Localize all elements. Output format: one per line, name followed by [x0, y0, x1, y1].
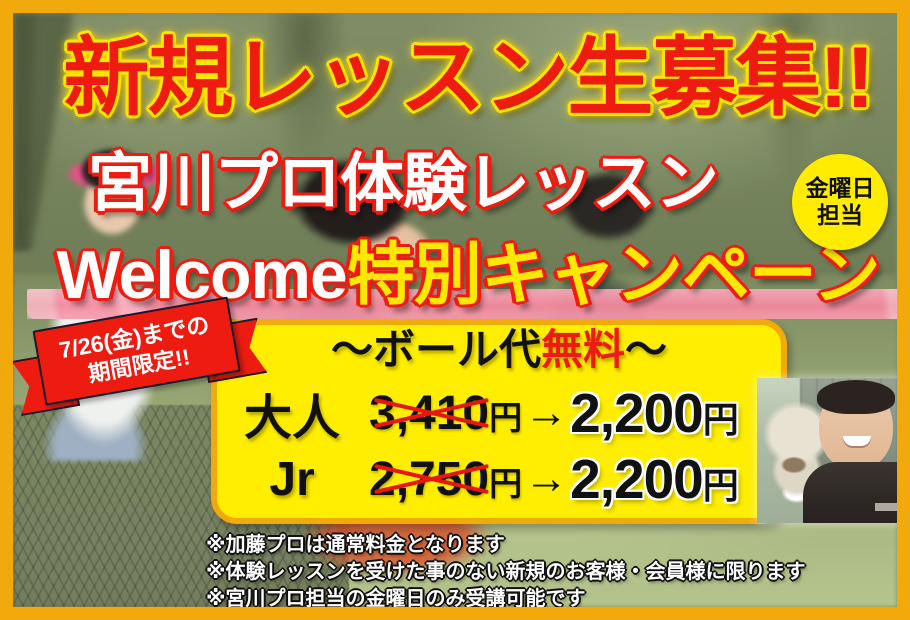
price-label-adult: 大人	[217, 378, 367, 448]
price-old-adult: 3,410円	[369, 387, 522, 440]
footnote-list: ※加藤プロは通常料金となります ※体験レッスンを受けた事のない新規のお客様・会員…	[206, 532, 906, 614]
panel-title-free: 無料	[541, 326, 625, 373]
instructor-shirt	[803, 462, 909, 523]
instructor-photo	[757, 378, 909, 523]
footnote-item: ※体験レッスンを受けた事のない新規のお客様・会員様に限ります	[206, 559, 906, 586]
price-old-junior: 2,750円	[369, 453, 522, 506]
price-row-junior: Jr 2,750円 → 2,200円	[217, 447, 781, 511]
panel-title-suffix: ～	[625, 326, 667, 373]
price-old-adult-wrap: 3,410円	[369, 386, 522, 441]
headline-campaign-special: 特別キャンペーン	[347, 237, 880, 313]
footnote-item: ※加藤プロは通常料金となります	[206, 532, 906, 559]
price-arrow-junior: →	[524, 454, 568, 504]
price-panel: ～ボール代無料～ 大人 3,410円 → 2,200円 Jr 2,750円 → …	[211, 319, 787, 524]
price-new-adult: 2,200円	[570, 381, 738, 445]
price-new-junior: 2,200円	[570, 447, 738, 511]
friday-badge-line1: 金曜日	[806, 175, 875, 202]
headline-campaign: Welcome特別キャンペーン	[23, 241, 910, 309]
friday-badge: 金曜日 担当	[792, 154, 888, 250]
headline-primary: 新規レッスン生募集!!	[13, 35, 910, 121]
panel-title: ～ボール代無料～	[217, 329, 781, 371]
promo-poster: 新規レッスン生募集!! 宮川プロ体験レッスン Welcome特別キャンペーン 金…	[0, 0, 910, 620]
price-row-adult: 大人 3,410円 → 2,200円	[217, 381, 781, 445]
price-arrow-adult: →	[524, 388, 568, 438]
shirt-logo	[875, 503, 899, 511]
instructor-hair	[817, 380, 895, 414]
footnote-item: ※宮川プロ担当の金曜日のみ受講可能です	[206, 586, 906, 613]
headline-secondary: 宮川プロ体験レッスン	[13, 151, 793, 215]
price-old-junior-wrap: 2,750円	[369, 452, 522, 507]
panel-title-prefix: ～ボール代	[331, 326, 541, 373]
price-label-junior: Jr	[217, 452, 367, 507]
friday-badge-line2: 担当	[817, 202, 863, 229]
